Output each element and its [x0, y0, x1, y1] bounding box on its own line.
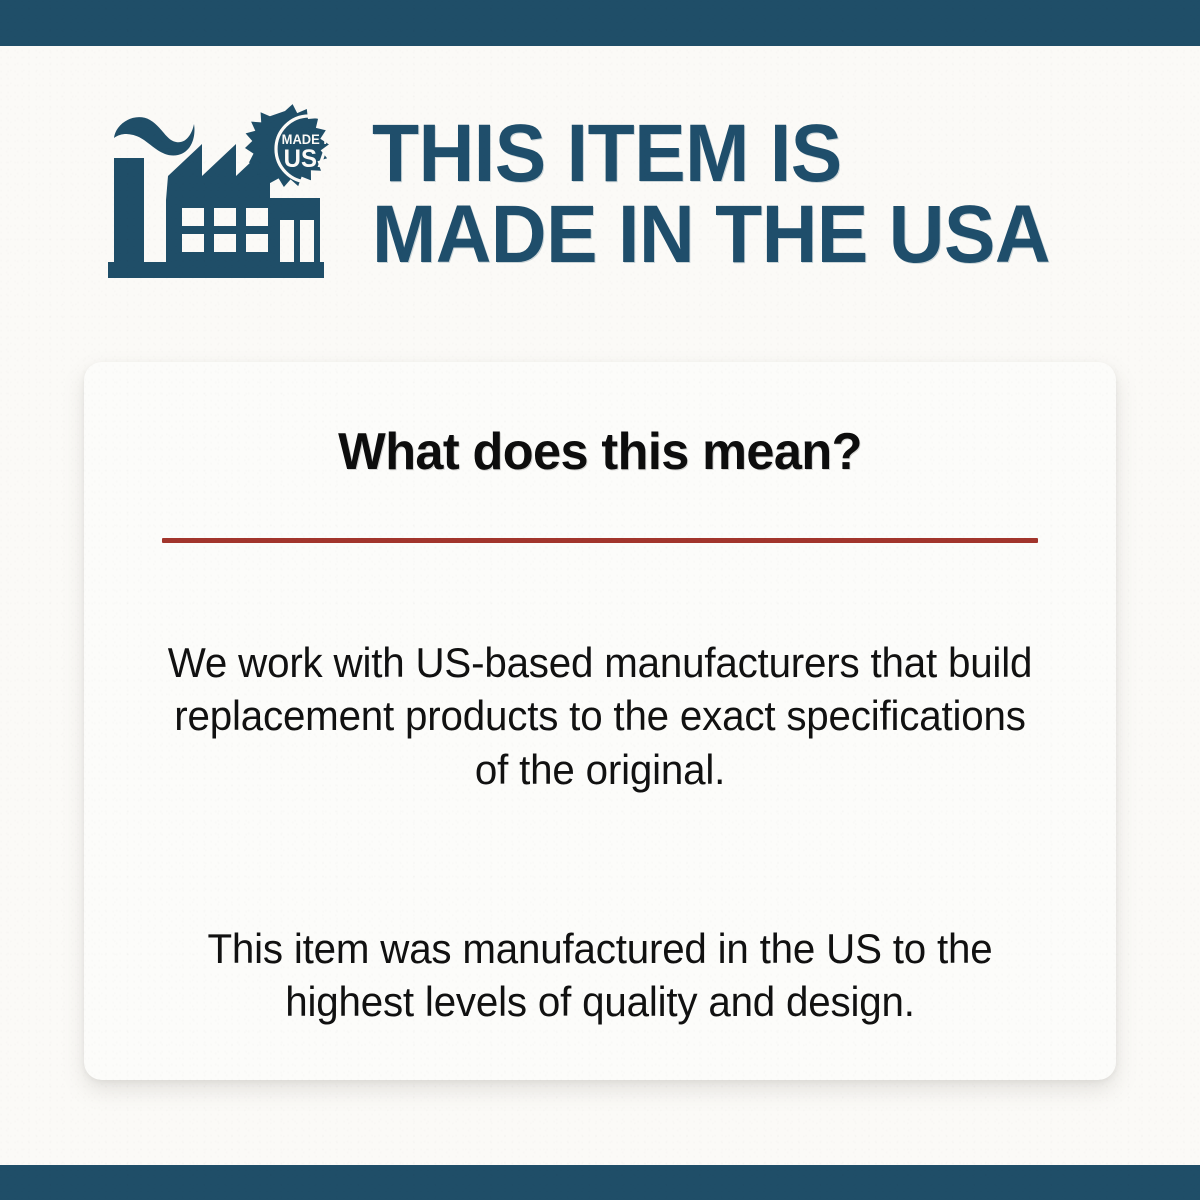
title-divider	[162, 538, 1038, 543]
page-header: MADE IN USA THIS ITEM IS MADE IN THE USA	[0, 96, 1200, 292]
headline-line-2: MADE IN THE USA	[372, 194, 1050, 275]
page-title: THIS ITEM IS MADE IN THE USA	[372, 113, 1050, 275]
bottom-accent-band	[0, 1165, 1200, 1200]
card-paragraph-2: This item was manufactured in the US to …	[153, 922, 1048, 1029]
top-accent-band	[0, 0, 1200, 46]
headline-line-1: THIS ITEM IS	[372, 113, 1050, 194]
made-in-usa-badge-icon: MADE IN USA	[245, 104, 340, 187]
info-card: What does this mean? We work with US-bas…	[84, 362, 1116, 1080]
svg-text:USA: USA	[284, 145, 335, 173]
factory-icon: MADE IN USA	[100, 102, 340, 287]
card-paragraph-1: We work with US-based manufacturers that…	[153, 636, 1048, 796]
card-title: What does this mean?	[99, 422, 1100, 482]
